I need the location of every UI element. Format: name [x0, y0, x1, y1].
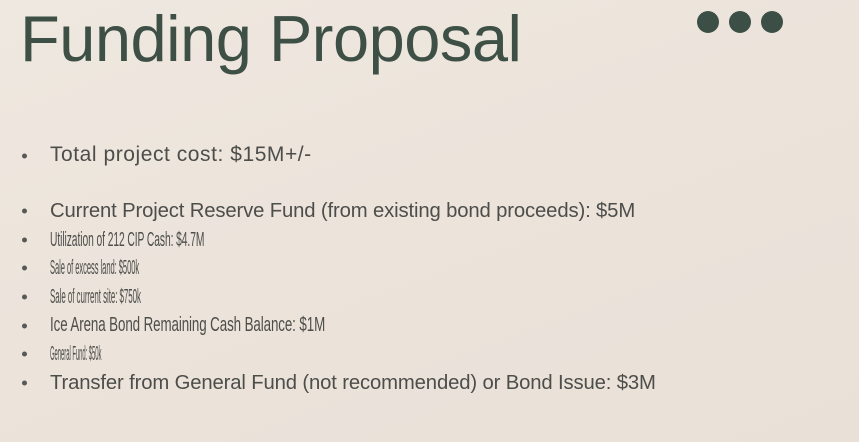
list-item: Utilization of 212 CIP Cash: $4.7M: [18, 226, 848, 255]
list-item: Total project cost: $15M+/-: [18, 141, 848, 170]
list-item: General Fund: $50k: [18, 340, 848, 369]
dot-icon: [697, 11, 719, 33]
bullet-point-icon: [18, 340, 50, 369]
bullet-point-icon: [18, 283, 50, 312]
list-item-label: Transfer from General Fund (not recommen…: [50, 369, 840, 398]
bullet-point-icon: [18, 141, 50, 170]
list-item-label: General Fund: $50k: [50, 340, 280, 369]
bullet-point-icon: [18, 226, 50, 255]
list-item: Sale of current site: $750k: [18, 283, 848, 312]
list-item-label: Current Project Reserve Fund (from exist…: [50, 197, 840, 226]
list-item: Transfer from General Fund (not recommen…: [18, 369, 848, 398]
slide-title: Funding Proposal: [20, 6, 522, 72]
list-item: Current Project Reserve Fund (from exist…: [18, 197, 848, 226]
presentation-slide: Funding Proposal Total project cost: $15…: [0, 0, 859, 442]
list-item: Ice Arena Bond Remaining Cash Balance: $…: [18, 311, 848, 340]
bullet-point-icon: [18, 254, 50, 283]
list-item: Sale of excess land: $500k: [18, 254, 848, 283]
list-item-label: Total project cost: $15M+/-: [50, 141, 848, 170]
bullet-point-icon: [18, 369, 50, 398]
list-item-label: Ice Arena Bond Remaining Cash Balance: $…: [50, 311, 570, 340]
bullet-point-icon: [18, 197, 50, 226]
decorative-dots-group: [697, 11, 783, 33]
list-item-label: Sale of excess land: $500k: [50, 254, 345, 283]
bullet-point-icon: [18, 311, 50, 340]
dot-icon: [729, 11, 751, 33]
bullet-list: Total project cost: $15M+/- Current Proj…: [18, 141, 848, 397]
list-item-label: Sale of current site: $750k: [50, 283, 360, 312]
dot-icon: [761, 11, 783, 33]
list-item-label: Utilization of 212 CIP Cash: $4.7M: [50, 226, 450, 255]
